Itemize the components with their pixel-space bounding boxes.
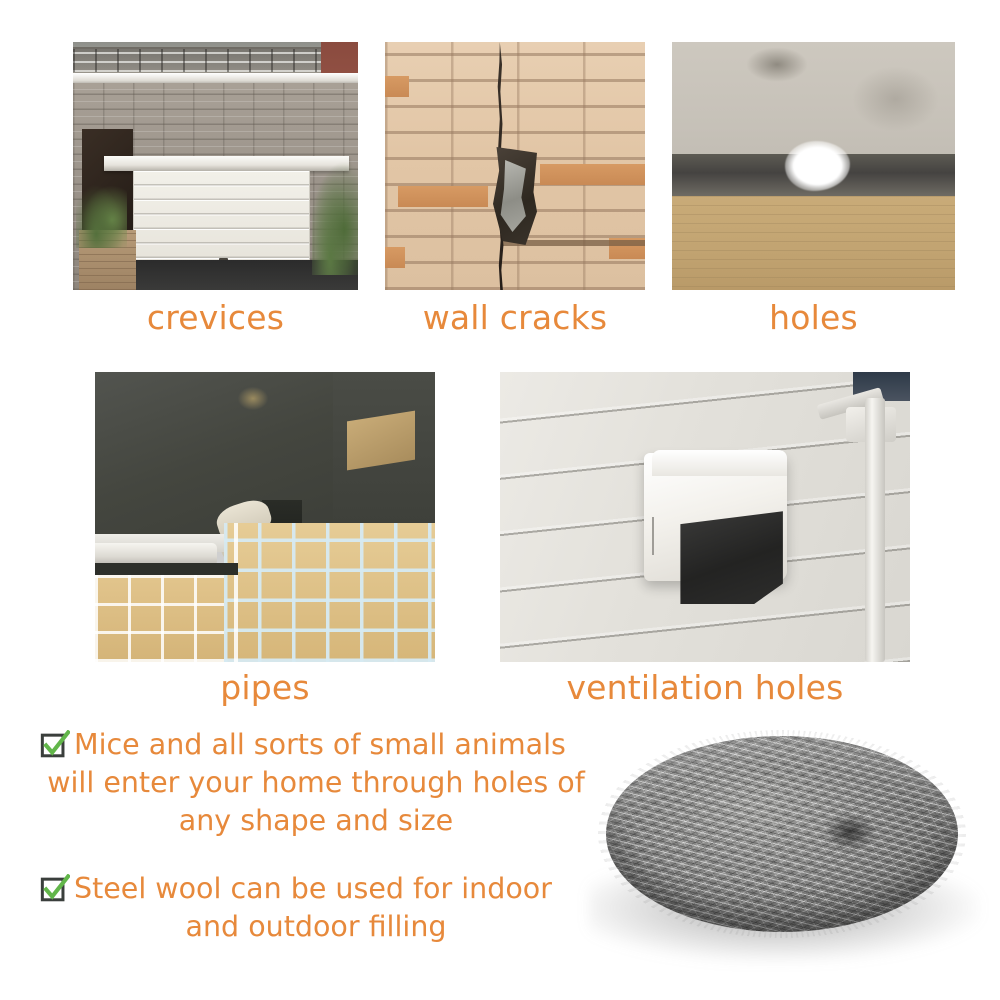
cracked-brick-wall-photo	[385, 42, 645, 290]
checked-checkbox-icon	[40, 874, 70, 904]
pipes-through-tiled-wall-photo	[95, 372, 435, 662]
hole-in-wall-ceiling-gap-photo	[672, 42, 955, 290]
photo-pipes	[95, 372, 435, 662]
list-item: Mice and all sorts of small animals will…	[36, 726, 596, 840]
photo-wall-cracks	[385, 42, 645, 290]
steel-wool-recess	[824, 814, 876, 850]
caption-wall-cracks: wall cracks	[385, 298, 645, 337]
benefit-line: will enter your home through holes of	[36, 764, 596, 802]
photo-crevices	[73, 42, 358, 290]
exterior-wall-vent-photo	[500, 372, 910, 662]
caption-pipes: pipes	[95, 668, 435, 707]
caption-holes: holes	[672, 298, 955, 337]
steel-wool-roll	[598, 736, 970, 944]
list-item: Steel wool can be used for indoor and ou…	[36, 870, 596, 946]
photo-holes	[672, 42, 955, 290]
benefit-line: Steel wool can be used for indoor	[36, 870, 596, 908]
benefit-list: Mice and all sorts of small animals will…	[36, 726, 596, 946]
benefit-line: and outdoor filling	[36, 908, 596, 946]
garage-door-stone-wall-photo	[73, 42, 358, 290]
photo-ventilation-holes	[500, 372, 910, 662]
benefit-line: Mice and all sorts of small animals	[36, 726, 596, 764]
infographic-page: crevices wall cracks holes	[0, 0, 1000, 1000]
steel-wool-fibers	[598, 730, 966, 938]
checked-checkbox-icon	[40, 730, 70, 760]
caption-ventilation-holes: ventilation holes	[500, 668, 910, 707]
benefit-line: any shape and size	[36, 802, 596, 840]
caption-crevices: crevices	[73, 298, 358, 337]
